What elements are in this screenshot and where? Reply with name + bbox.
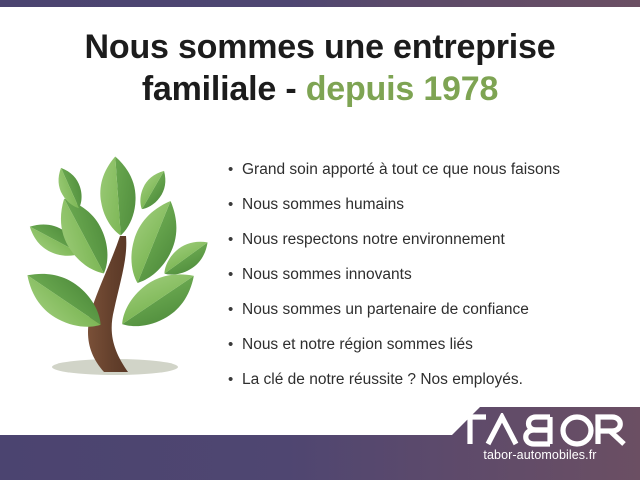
tree-logo-illustration — [8, 148, 223, 388]
list-item: • Nous et notre région sommes liés — [228, 327, 628, 362]
tree-leaf — [98, 155, 138, 236]
brand-logo[interactable]: tabor-automobiles.fr — [452, 413, 628, 471]
headline-line-2-accent: depuis 1978 — [306, 70, 498, 108]
bullet-marker-icon: • — [228, 337, 242, 352]
bullet-marker-icon: • — [228, 267, 242, 282]
list-item: • Grand soin apporté à tout ce que nous … — [228, 152, 628, 187]
list-item: • Nous respectons notre environnement — [228, 222, 628, 257]
slide-canvas: Nous sommes une entreprise familiale - d… — [0, 0, 640, 480]
list-item: • Nous sommes un partenaire de confiance — [228, 292, 628, 327]
bullet-marker-icon: • — [228, 197, 242, 212]
list-item-label: La clé de notre réussite ? Nos employés. — [242, 370, 523, 390]
list-item-label: Grand soin apporté à tout ce que nous fa… — [242, 160, 560, 180]
page-title: Nous sommes une entreprise familiale - d… — [30, 26, 610, 110]
brand-url[interactable]: tabor-automobiles.fr — [452, 448, 628, 462]
list-item: • La clé de notre réussite ? Nos employé… — [228, 362, 628, 397]
headline-line-1: Nous sommes une entreprise — [85, 28, 556, 66]
bullet-marker-icon: • — [228, 302, 242, 317]
bullet-marker-icon: • — [228, 162, 242, 177]
top-accent-bar — [0, 0, 640, 7]
tree-leaf — [111, 260, 204, 340]
headline-line-2-main: familiale - — [142, 70, 297, 108]
benefits-list: • Grand soin apporté à tout ce que nous … — [228, 152, 628, 397]
list-item-label: Nous sommes innovants — [242, 265, 412, 285]
list-item-label: Nous et notre région sommes liés — [242, 335, 473, 355]
list-item-label: Nous respectons notre environnement — [242, 230, 505, 250]
list-item-label: Nous sommes un partenaire de confiance — [242, 300, 529, 320]
bullet-marker-icon: • — [228, 372, 242, 387]
brand-wordmark — [452, 413, 628, 447]
bullet-marker-icon: • — [228, 232, 242, 247]
list-item: • Nous sommes humains — [228, 187, 628, 222]
list-item-label: Nous sommes humains — [242, 195, 404, 215]
list-item: • Nous sommes innovants — [228, 257, 628, 292]
